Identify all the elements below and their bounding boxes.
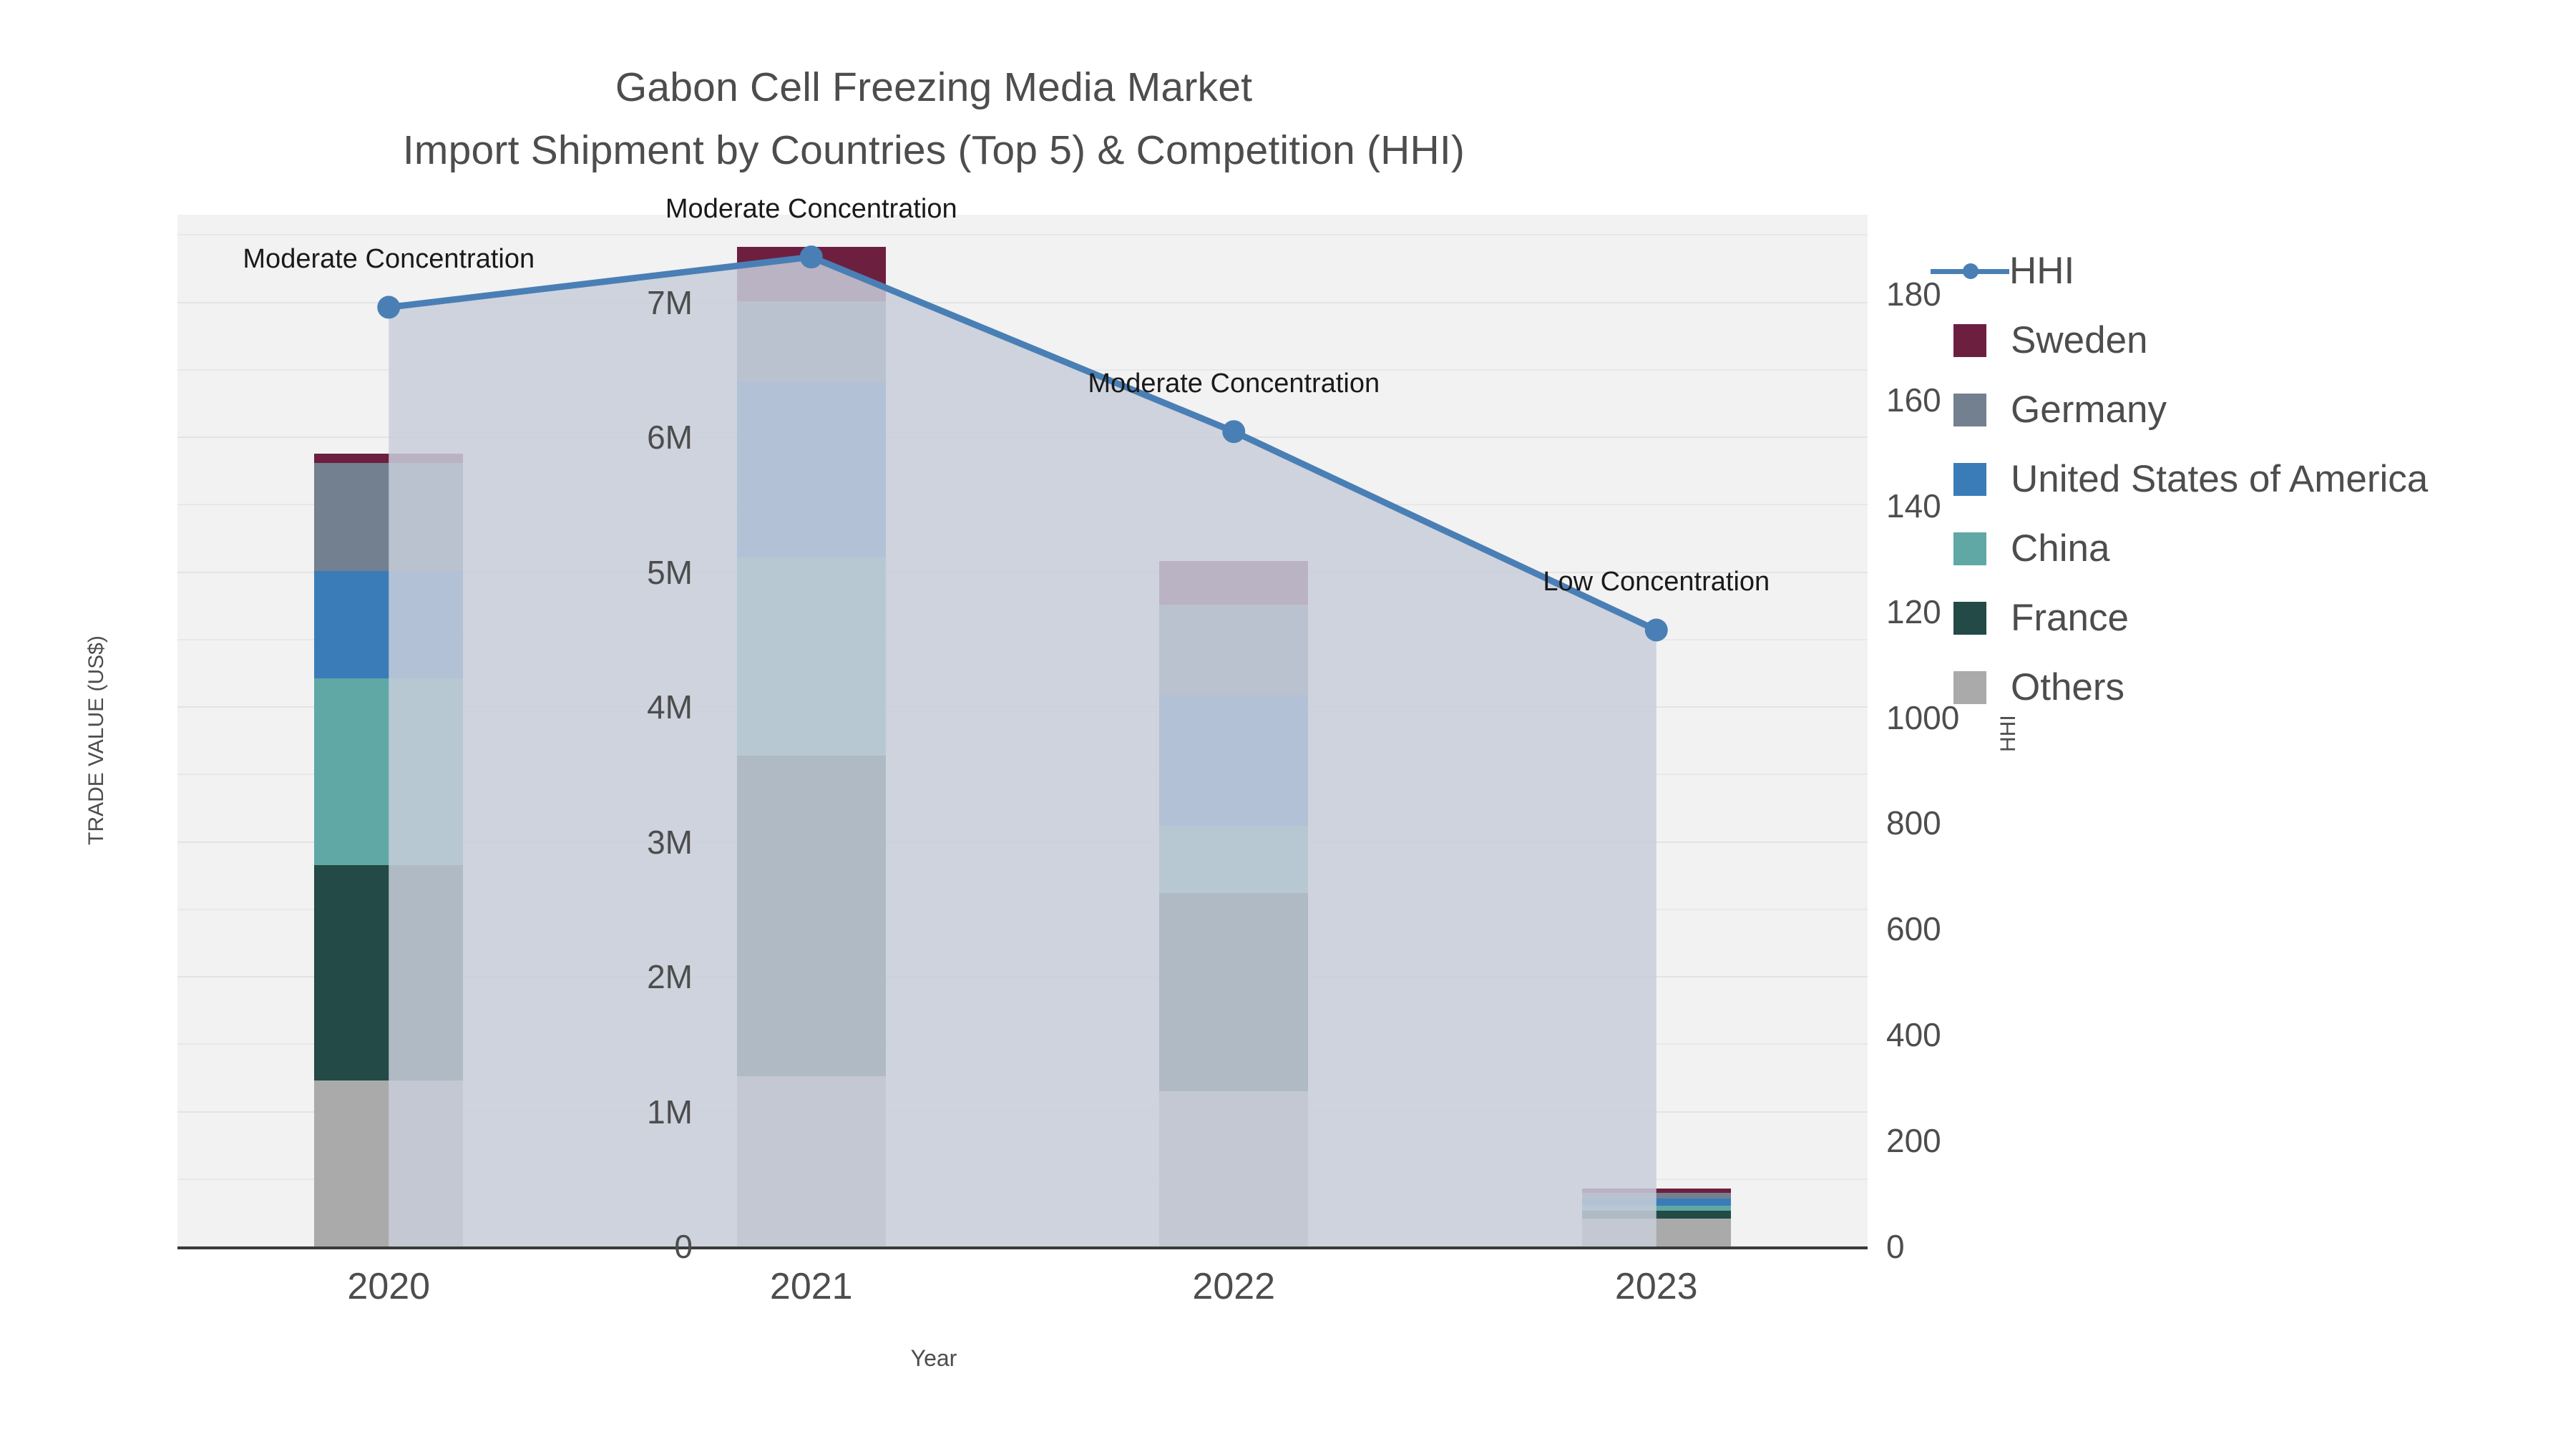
chart-title-block: Gabon Cell Freezing Media Market Import … xyxy=(0,56,1868,182)
legend-item[interactable]: Germany xyxy=(1953,375,2540,444)
legend-swatch-icon xyxy=(1953,324,1986,357)
concentration-annotation: Moderate Concentration xyxy=(561,194,1062,225)
y-axis-left-tick-label: 4M xyxy=(647,691,693,723)
y-axis-right-tick-label: 600 xyxy=(1886,912,1941,945)
legend-item[interactable]: France xyxy=(1953,583,2540,653)
legend-item[interactable]: United States of America xyxy=(1953,444,2540,514)
x-axis-title: Year xyxy=(0,1345,1868,1372)
y-axis-right-tick-label: 120 xyxy=(1886,595,1941,628)
x-axis-tick-label: 2023 xyxy=(1549,1265,1764,1308)
legend-swatch-icon xyxy=(1953,394,1986,426)
y-axis-right-tick-label: 400 xyxy=(1886,1018,1941,1051)
legend-swatch-icon xyxy=(1953,532,1986,565)
legend-item[interactable]: China xyxy=(1953,514,2540,583)
y-axis-left-tick-label: 1M xyxy=(647,1096,693,1128)
legend-item-label: Others xyxy=(2011,668,2124,706)
chart-legend: HHISwedenGermanyUnited States of America… xyxy=(1953,236,2540,722)
x-axis-tick-label: 2021 xyxy=(704,1265,919,1308)
y-axis-left-tick-label: 2M xyxy=(647,960,693,993)
y-axis-left-tick-label: 6M xyxy=(647,421,693,454)
concentration-annotation: Moderate Concentration xyxy=(138,244,639,275)
x-axis-tick-label: 2022 xyxy=(1126,1265,1341,1308)
hhi-data-point[interactable] xyxy=(1222,420,1245,443)
hhi-area-fill xyxy=(389,257,1657,1246)
y-axis-left-tick-label: 3M xyxy=(647,826,693,859)
legend-item[interactable]: Sweden xyxy=(1953,306,2540,375)
y-axis-right-tick-label: 160 xyxy=(1886,384,1941,416)
y-axis-right-tick-label: 140 xyxy=(1886,489,1941,522)
legend-swatch-icon xyxy=(1953,671,1986,704)
x-axis-line xyxy=(177,1246,1868,1249)
legend-item[interactable]: HHI xyxy=(1953,236,2540,306)
hhi-data-point[interactable] xyxy=(800,245,823,268)
x-axis-tick-label: 2020 xyxy=(281,1265,496,1308)
y-axis-right-tick-label: 800 xyxy=(1886,806,1941,839)
chart-title-line1: Gabon Cell Freezing Media Market xyxy=(0,56,1868,119)
y-axis-left-tick-label: 5M xyxy=(647,556,693,589)
y-axis-right-tick-label: 1000 xyxy=(1886,701,1959,734)
y-axis-left-title: TRADE VALUE (US$) xyxy=(84,635,109,845)
legend-item-label: China xyxy=(2011,530,2109,567)
chart-root: Gabon Cell Freezing Media Market Import … xyxy=(0,0,2576,1449)
y-axis-right-tick-label: 0 xyxy=(1886,1230,1905,1263)
legend-swatch-icon xyxy=(1953,602,1986,635)
y-axis-left-tick-label: 7M xyxy=(647,286,693,319)
y-axis-left-tick-label: 0 xyxy=(674,1230,693,1263)
legend-item-label: France xyxy=(2011,599,2129,637)
chart-title-line2: Import Shipment by Countries (Top 5) & C… xyxy=(0,119,1868,182)
y-axis-right-tick-label: 200 xyxy=(1886,1124,1941,1157)
legend-item-label: HHI xyxy=(2009,252,2074,290)
legend-item[interactable]: Others xyxy=(1953,653,2540,722)
concentration-annotation: Moderate Concentration xyxy=(983,369,1484,399)
hhi-data-point[interactable] xyxy=(1645,618,1668,641)
hhi-data-point[interactable] xyxy=(377,296,400,318)
legend-swatch-icon xyxy=(1953,463,1986,496)
concentration-annotation: Low Concentration xyxy=(1406,567,1907,597)
legend-line-marker-icon xyxy=(1931,255,2009,288)
legend-item-label: Sweden xyxy=(2011,321,2148,359)
legend-item-label: Germany xyxy=(2011,391,2167,429)
legend-item-label: United States of America xyxy=(2011,460,2428,498)
